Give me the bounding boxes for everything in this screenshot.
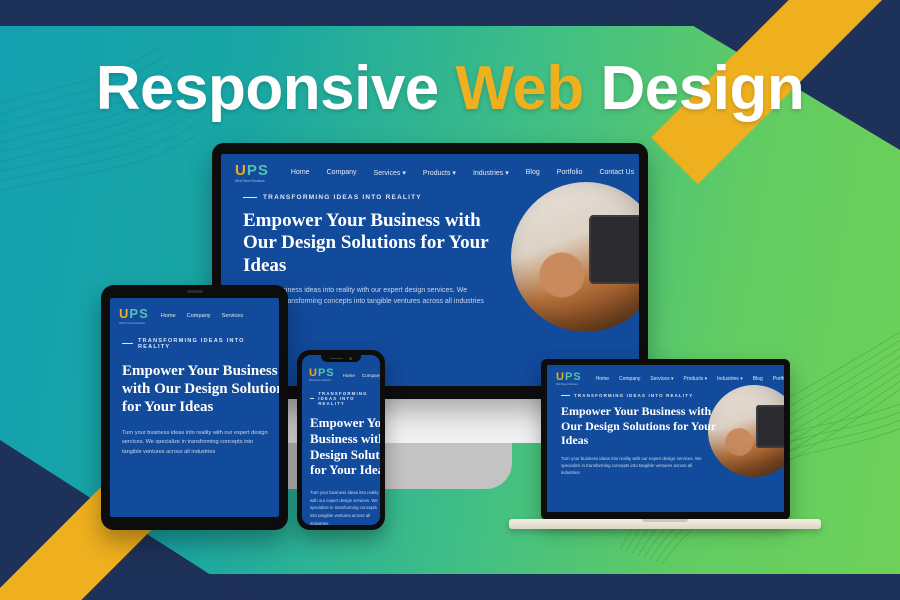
nav-item-company[interactable]: Company — [187, 313, 211, 319]
logo-letter-s: S — [258, 162, 269, 179]
nav-item-industries[interactable]: Industries ▾ — [473, 169, 509, 177]
nav-item-products[interactable]: Products ▾ — [683, 376, 707, 382]
laptop-device[interactable]: UPS Web Panel Solutions Home Company Ser… — [541, 359, 790, 520]
nav-item-services[interactable]: Services ▾ — [650, 376, 673, 382]
nav-item-portfolio[interactable]: Portfolio — [557, 169, 583, 177]
chevron-down-icon: ▾ — [671, 376, 674, 382]
nav-item-blog[interactable]: Blog — [753, 376, 763, 382]
tablet-bezel: UPS Web Panel Solutions Home Company Ser… — [101, 285, 288, 530]
site-navbar: UPS Web Panel Solutions Home Company Ser… — [110, 298, 279, 325]
eyebrow-label: TRANSFORMING IDEAS INTO REALITY — [138, 338, 279, 350]
tablet-screen[interactable]: UPS Web Panel Solutions Home Company Ser… — [110, 298, 279, 517]
logo-subtitle: Web Panel Solutions — [235, 180, 269, 183]
logo-mark: UPS — [119, 307, 149, 320]
phone-screen[interactable]: UPS Web Panel Solutions Home Company TRA… — [302, 355, 380, 525]
site-logo[interactable]: UPS Web Panel Solutions — [556, 372, 582, 386]
hero-heading: Empower Your Business with Our Design So… — [122, 362, 279, 416]
eyebrow-label: TRANSFORMING IDEAS INTO REALITY — [574, 393, 693, 398]
chevron-down-icon: ▾ — [452, 170, 456, 177]
site-logo[interactable]: UPS Web Panel Solutions — [235, 163, 269, 183]
chevron-down-icon: ▾ — [505, 170, 509, 177]
hero-eyebrow: TRANSFORMING IDEAS INTO REALITY — [561, 393, 784, 398]
nav-item-company[interactable]: Company — [362, 373, 380, 378]
logo-subtitle: Web Panel Solutions — [119, 322, 149, 325]
phone-camera-icon — [349, 357, 352, 360]
site-nav-links: Home Company Services — [161, 313, 243, 319]
poster-canvas: Responsive Web Design UPS Web Panel Solu… — [0, 0, 900, 600]
headline-text-2: Design — [584, 54, 804, 123]
hero-eyebrow: TRANSFORMING IDEAS INTO REALITY — [310, 391, 380, 406]
nav-item-services[interactable]: Services ▾ — [374, 169, 406, 177]
nav-item-portfolio[interactable]: Portfolio — [773, 376, 784, 382]
phone-speaker-icon — [330, 358, 343, 360]
headline-text-1: Responsive — [96, 54, 456, 123]
nav-item-services[interactable]: Services — [222, 313, 243, 319]
eyebrow-label: TRANSFORMING IDEAS INTO REALITY — [263, 194, 422, 201]
logo-mark: UPS — [556, 372, 582, 383]
hero-heading: Empower Your Business with Our Design So… — [561, 404, 726, 447]
eyebrow-label: TRANSFORMING IDEAS INTO REALITY — [318, 391, 380, 406]
laptop-screen[interactable]: UPS Web Panel Solutions Home Company Ser… — [547, 365, 784, 512]
headline-accent-word: Web — [456, 54, 584, 123]
logo-subtitle: Web Panel Solutions — [309, 380, 335, 382]
nav-item-home[interactable]: Home — [161, 313, 176, 319]
site-navbar: UPS Web Panel Solutions Home Company Ser… — [221, 154, 639, 183]
chevron-down-icon: ▾ — [740, 376, 743, 382]
nav-item-home[interactable]: Home — [291, 169, 310, 177]
chevron-down-icon: ▾ — [705, 376, 708, 382]
nav-item-company[interactable]: Company — [327, 169, 357, 177]
hero-photo-circle — [511, 182, 639, 332]
tablet-camera-icon — [187, 290, 203, 293]
poster-headline: Responsive Web Design — [0, 58, 900, 120]
site-logo[interactable]: UPS Web Panel Solutions — [309, 368, 335, 382]
eyebrow-dash-icon — [310, 398, 314, 399]
hero-body-text: Turn your business ideas into reality wi… — [561, 455, 711, 476]
chevron-down-icon: ▾ — [402, 170, 406, 177]
hero-eyebrow: TRANSFORMING IDEAS INTO REALITY — [243, 194, 639, 201]
eyebrow-dash-icon — [243, 197, 257, 198]
nav-item-home[interactable]: Home — [596, 376, 609, 382]
site-navbar: UPS Web Panel Solutions Home Company Ser… — [547, 365, 784, 386]
hero-body-text: Turn your business ideas into reality wi… — [310, 489, 380, 525]
site-nav-links: Home Company Services ▾ Products ▾ Indus… — [596, 376, 784, 382]
nav-item-contact-us[interactable]: Contact Us — [599, 169, 634, 177]
nav-item-products[interactable]: Products ▾ — [423, 169, 456, 177]
phone-bezel: UPS Web Panel Solutions Home Company TRA… — [297, 350, 385, 530]
tablet-device[interactable]: UPS Web Panel Solutions Home Company Ser… — [101, 285, 288, 530]
eyebrow-dash-icon — [561, 395, 570, 396]
hero-heading: Empower Your Business with Our Design So… — [310, 415, 380, 477]
eyebrow-dash-icon — [122, 343, 133, 344]
site-nav-links: Home Company — [343, 373, 380, 378]
site-nav-links: Home Company Services ▾ Products ▾ Indus… — [291, 169, 634, 177]
nav-item-blog[interactable]: Blog — [526, 169, 540, 177]
hero-eyebrow: TRANSFORMING IDEAS INTO REALITY — [122, 338, 279, 350]
laptop-base — [509, 519, 821, 529]
smartphone-device[interactable]: UPS Web Panel Solutions Home Company TRA… — [297, 350, 385, 530]
logo-letter-u: U — [235, 162, 247, 179]
site-logo[interactable]: UPS Web Panel Solutions — [119, 307, 149, 325]
nav-item-industries[interactable]: Industries ▾ — [717, 376, 743, 382]
logo-subtitle: Web Panel Solutions — [556, 384, 582, 386]
nav-item-home[interactable]: Home — [343, 373, 355, 378]
logo-letter-p: P — [247, 162, 258, 179]
hero-body-text: Turn your business ideas into reality wi… — [122, 429, 272, 458]
nav-item-company[interactable]: Company — [619, 376, 640, 382]
laptop-bezel: UPS Web Panel Solutions Home Company Ser… — [541, 359, 790, 520]
logo-mark: UPS — [309, 368, 335, 379]
logo-mark: UPS — [235, 163, 269, 178]
hero-heading: Empower Your Business with Our Design So… — [243, 210, 503, 277]
phone-notch — [321, 355, 361, 362]
